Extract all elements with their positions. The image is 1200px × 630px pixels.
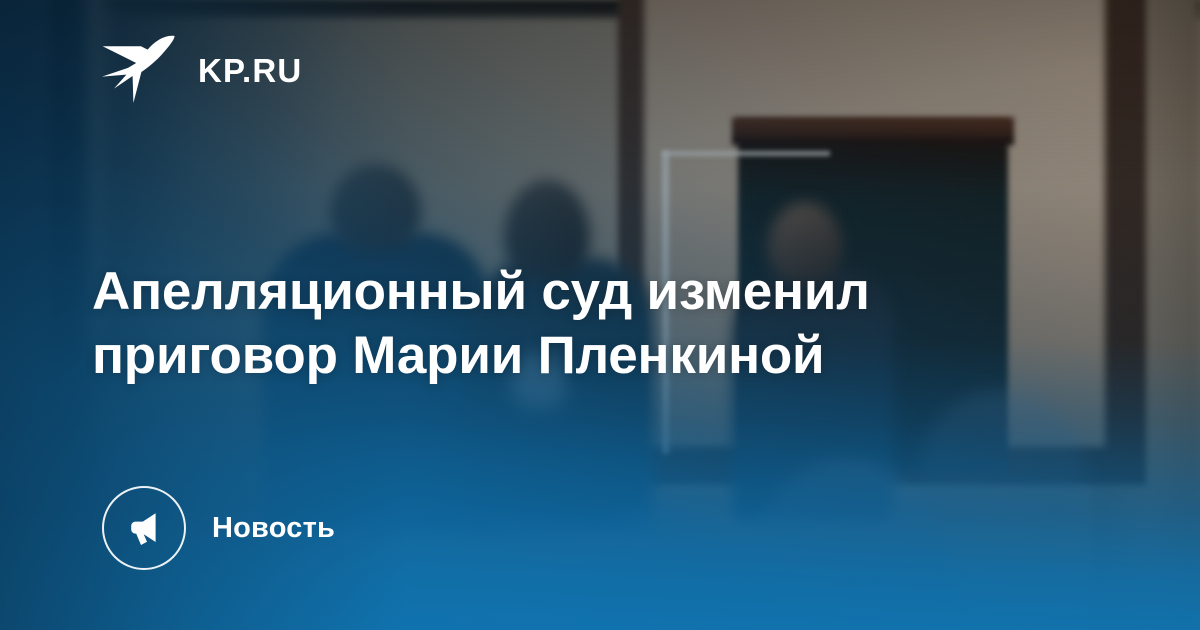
news-share-card: KP.RU Апелляционный суд изменил приговор… <box>0 0 1200 630</box>
page-title: Апелляционный суд изменил приговор Марии… <box>92 260 992 388</box>
card-content: KP.RU Апелляционный суд изменил приговор… <box>0 0 1200 630</box>
badge-circle <box>102 486 186 570</box>
badge-label: Новость <box>212 514 335 543</box>
brand-name: KP.RU <box>198 54 302 87</box>
megaphone-icon <box>124 508 164 548</box>
status-badge[interactable]: Новость <box>102 486 335 570</box>
brand-lockup[interactable]: KP.RU <box>100 34 302 106</box>
swallow-bird-icon <box>100 34 176 106</box>
